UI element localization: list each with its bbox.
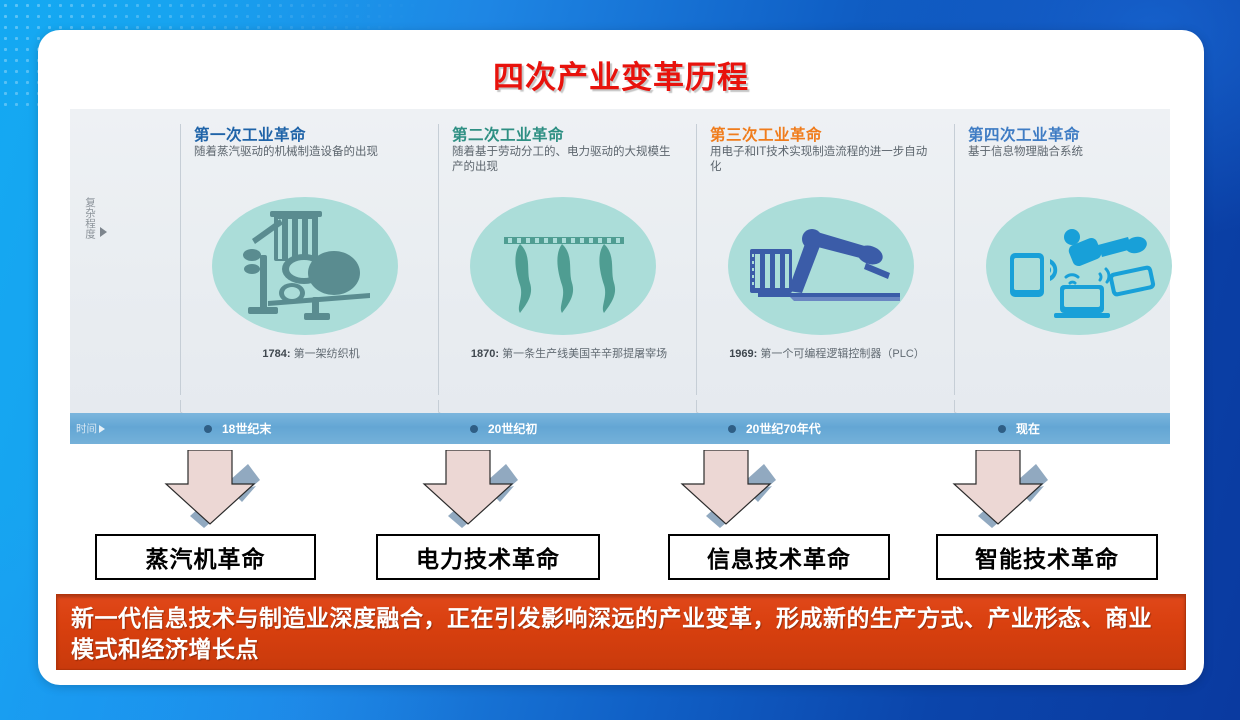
timeline-dot-4 (998, 425, 1006, 433)
result-box-2[interactable]: 电力技术革命 (376, 534, 600, 580)
assembly-line-icon (470, 197, 656, 335)
panel-2-icon-circle (470, 197, 656, 335)
panel-1-icon-circle (212, 197, 398, 335)
panel-1-caption-text: 第一架纺织机 (291, 348, 360, 360)
down-arrow-2 (418, 450, 530, 528)
panel-2-description: 随着基于劳动分工的、电力驱动的大规模生产的出现 (452, 145, 678, 175)
panel-divider-1 (180, 127, 181, 395)
timeline-mark-1: 18世纪末 (222, 420, 271, 437)
timeline-dot-1 (204, 425, 212, 433)
revolution-panel-2: 第二次工业革命 随着基于劳动分工的、电力驱动的大规模生产的出现 (438, 109, 696, 419)
panel-3-caption-text: 第一个可编程逻辑控制器（PLC） (757, 348, 924, 360)
timeline-mark-2: 20世纪初 (488, 420, 537, 437)
panel-1-heading: 第一次工业革命 (194, 123, 306, 145)
panel-divider-3 (696, 127, 697, 395)
summary-banner-text: 新一代信息技术与制造业深度融合，正在引发影响深远的产业变革，形成新的生产方式、产… (71, 603, 1171, 665)
panel-4-heading: 第四次工业革命 (968, 123, 1080, 145)
panel-2-caption-text: 第一条生产线美国辛辛那提屠宰场 (499, 348, 667, 360)
timeline-arrow-icon (99, 425, 105, 433)
result-box-3[interactable]: 信息技术革命 (668, 534, 890, 580)
panel-1-description: 随着蒸汽驱动的机械制造设备的出现 (194, 145, 420, 160)
result-box-1[interactable]: 蒸汽机革命 (95, 534, 316, 580)
connected-devices-icon (986, 197, 1172, 335)
complexity-axis-label: 复杂程度 (78, 197, 96, 239)
panel-1-caption-year: 1784: (262, 348, 290, 360)
timeline-dot-2 (470, 425, 478, 433)
panel-2-heading: 第二次工业革命 (452, 123, 564, 145)
panel-2-caption: 1870: 第一条生产线美国辛辛那提屠宰场 (452, 347, 686, 362)
timeline-label-text: 时间 (76, 423, 97, 435)
revolution-panel-4: 第四次工业革命 基于信息物理融合系统 (954, 109, 1204, 419)
panel-2-caption-year: 1870: (471, 348, 499, 360)
summary-banner: 新一代信息技术与制造业深度融合，正在引发影响深远的产业变革，形成新的生产方式、产… (56, 594, 1186, 670)
down-arrow-1 (160, 450, 272, 528)
timeline-dot-3 (728, 425, 736, 433)
result-box-4[interactable]: 智能技术革命 (936, 534, 1158, 580)
panel-3-caption: 1969: 第一个可编程逻辑控制器（PLC） (710, 347, 944, 362)
panel-4-icon-circle (986, 197, 1172, 335)
panel-3-icon-circle (728, 197, 914, 335)
robot-arm-icon (728, 197, 914, 335)
revolution-panel-3: 第三次工业革命 用电子和IT技术实现制造流程的进一步自动化 (696, 109, 954, 419)
industrial-revolution-infographic: 复杂程度 第一次工业革命 随着蒸汽驱动的机械制造设备的出现 (70, 109, 1170, 419)
down-arrow-4 (948, 450, 1060, 528)
content-card: 四次产业变革历程 复杂程度 第一次工业革命 随着蒸汽驱动的机械制造设备的出现 (38, 30, 1204, 685)
spinning-machine-icon (212, 197, 398, 335)
timeline-axis-label: 时间 (76, 421, 105, 436)
slide-canvas: 四次产业变革历程 复杂程度 第一次工业革命 随着蒸汽驱动的机械制造设备的出现 (0, 0, 1240, 720)
panel-divider-2 (438, 127, 439, 395)
panel-3-heading: 第三次工业革命 (710, 123, 822, 145)
panel-3-caption-year: 1969: (729, 348, 757, 360)
complexity-axis-arrow-icon (100, 227, 107, 237)
panel-divider-4 (954, 127, 955, 395)
panel-4-description: 基于信息物理融合系统 (968, 145, 1194, 160)
timeline-mark-4: 现在 (1016, 420, 1040, 437)
revolution-panel-1: 第一次工业革命 随着蒸汽驱动的机械制造设备的出现 (180, 109, 438, 419)
down-arrow-3 (676, 450, 788, 528)
timeline-mark-3: 20世纪70年代 (746, 420, 821, 437)
timeline-bar: 时间 18世纪末 20世纪初 20世纪70年代 现在 (70, 413, 1170, 444)
page-title: 四次产业变革历程 (38, 52, 1204, 97)
panel-3-description: 用电子和IT技术实现制造流程的进一步自动化 (710, 145, 936, 175)
panel-1-caption: 1784: 第一架纺织机 (194, 347, 428, 362)
